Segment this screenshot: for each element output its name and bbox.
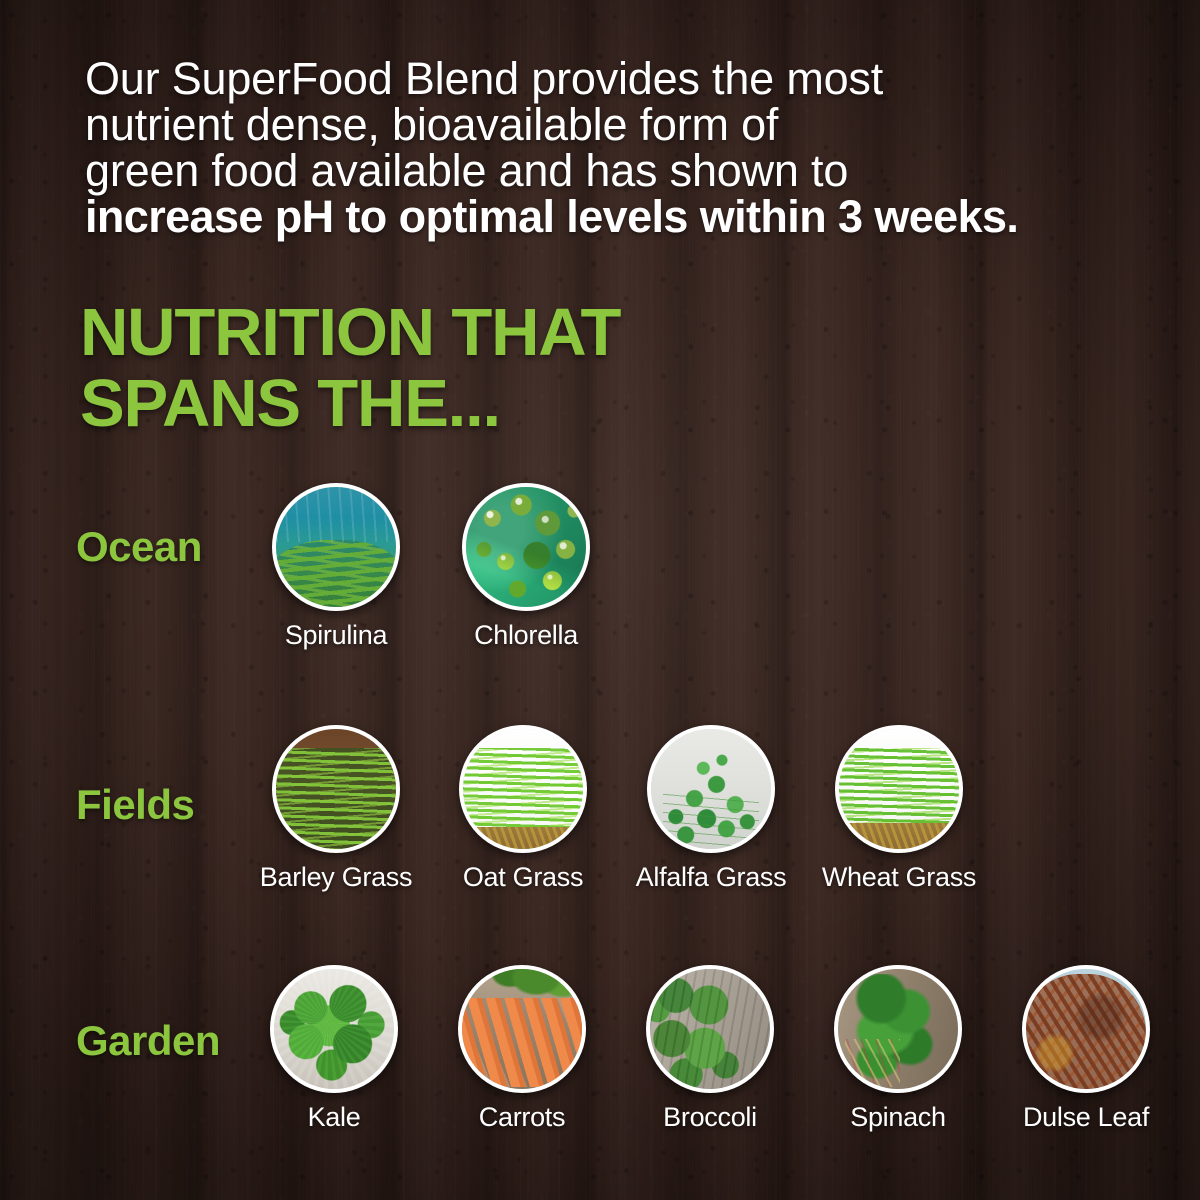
grass-blades: [459, 748, 587, 832]
intro-line-1: Our SuperFood Blend provides the most: [85, 56, 1095, 102]
oat-grass-photo-icon: [463, 729, 583, 849]
category-row-garden: Garden Kale Carrots: [0, 962, 1200, 1152]
headline-line-1: NUTRITION THAT: [80, 297, 980, 368]
intro-line-3: green food available and has shown to: [85, 148, 1095, 194]
headline-line-2: SPANS THE...: [80, 368, 980, 439]
ingredient-label-dulse-leaf: Dulse Leaf: [1006, 1102, 1166, 1132]
ingredient-spinach[interactable]: Spinach: [818, 965, 978, 1132]
ingredient-label-wheat-grass: Wheat Grass: [819, 862, 979, 892]
alfalfa-grass-photo-icon: [651, 729, 771, 849]
ingredient-label-broccoli: Broccoli: [630, 1102, 790, 1132]
ingredient-label-spinach: Spinach: [818, 1102, 978, 1132]
kale-photo-icon: [274, 969, 394, 1089]
ingredient-dulse-leaf[interactable]: Dulse Leaf: [1006, 965, 1166, 1132]
ingredient-kale[interactable]: Kale: [254, 965, 414, 1132]
ingredient-thumb-broccoli[interactable]: [646, 965, 774, 1093]
ingredient-thumb-spirulina[interactable]: [272, 483, 400, 611]
intro-line-2: nutrient dense, bioavailable form of: [85, 102, 1095, 148]
intro-emphasis-line: increase pH to optimal levels within 3 w…: [85, 194, 1095, 240]
ingredient-thumb-alfalfa-grass[interactable]: [647, 725, 775, 853]
ingredient-label-spirulina: Spirulina: [256, 620, 416, 650]
ingredient-label-oat-grass: Oat Grass: [443, 862, 603, 892]
ingredient-label-barley-grass: Barley Grass: [256, 862, 416, 892]
ingredient-thumb-carrots[interactable]: [458, 965, 586, 1093]
ingredient-thumb-wheat-grass[interactable]: [835, 725, 963, 853]
page-title: NUTRITION THAT SPANS THE...: [80, 297, 980, 439]
ingredient-wheat-grass[interactable]: Wheat Grass: [819, 725, 979, 892]
grass-roots: [839, 823, 959, 849]
grass-roots: [463, 827, 583, 849]
ingredient-label-alfalfa-grass: Alfalfa Grass: [631, 862, 791, 892]
category-row-fields: Fields Barley Grass: [0, 722, 1200, 912]
ingredient-spirulina[interactable]: Spirulina: [256, 483, 416, 650]
category-label-ocean: Ocean: [76, 526, 202, 568]
ingredient-thumb-oat-grass[interactable]: [459, 725, 587, 853]
ingredient-thumb-spinach[interactable]: [834, 965, 962, 1093]
ingredient-thumb-barley-grass[interactable]: [272, 725, 400, 853]
chlorella-photo-icon: [466, 487, 586, 607]
ingredient-thumb-dulse-leaf[interactable]: [1022, 965, 1150, 1093]
superfood-blend-poster: Our SuperFood Blend provides the most nu…: [0, 0, 1200, 1200]
category-label-fields: Fields: [76, 784, 194, 826]
category-row-ocean: Ocean Spirulina Chlorella: [0, 480, 1200, 670]
ingredient-oat-grass[interactable]: Oat Grass: [443, 725, 603, 892]
category-label-garden: Garden: [76, 1020, 220, 1062]
grass-blades: [835, 748, 963, 827]
ingredient-thumb-chlorella[interactable]: [462, 483, 590, 611]
ingredient-chlorella[interactable]: Chlorella: [446, 483, 606, 650]
poster-content: Our SuperFood Blend provides the most nu…: [0, 0, 1200, 1200]
spirulina-photo-icon: [276, 487, 396, 607]
carrots-photo-icon: [462, 969, 582, 1089]
ingredient-thumb-kale[interactable]: [270, 965, 398, 1093]
ingredient-carrots[interactable]: Carrots: [442, 965, 602, 1132]
ingredient-alfalfa-grass[interactable]: Alfalfa Grass: [631, 725, 791, 892]
intro-paragraph: Our SuperFood Blend provides the most nu…: [85, 56, 1095, 240]
grass-blades: [272, 748, 400, 849]
broccoli-photo-icon: [650, 969, 770, 1089]
wheat-grass-photo-icon: [839, 729, 959, 849]
ingredient-label-kale: Kale: [254, 1102, 414, 1132]
barley-grass-photo-icon: [276, 729, 396, 849]
ingredient-broccoli[interactable]: Broccoli: [630, 965, 790, 1132]
ingredient-label-carrots: Carrots: [442, 1102, 602, 1132]
dulse-leaf-photo-icon: [1026, 969, 1146, 1089]
spinach-photo-icon: [838, 969, 958, 1089]
ingredient-label-chlorella: Chlorella: [446, 620, 606, 650]
ingredient-barley-grass[interactable]: Barley Grass: [256, 725, 416, 892]
